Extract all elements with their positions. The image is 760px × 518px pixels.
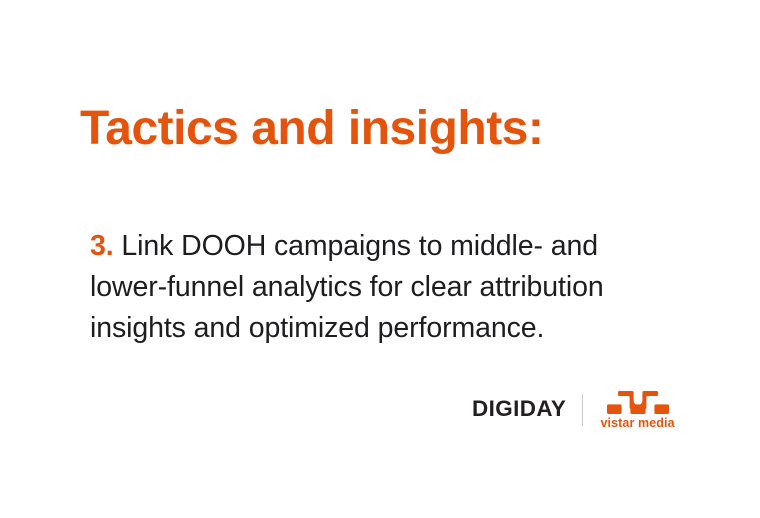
- page-title: Tactics and insights:: [80, 104, 543, 154]
- logo-lockup: DIGIDAY vistar media: [472, 388, 675, 432]
- vistar-media-logo: vistar media: [600, 391, 674, 430]
- list-item: 3. Link DOOH campaigns to middle- and lo…: [90, 226, 646, 349]
- list-item-number: 3.: [90, 230, 114, 262]
- list-item-text: Link DOOH campaigns to middle- and lower…: [90, 230, 604, 344]
- vistar-media-wordmark: vistar media: [600, 417, 674, 430]
- vistar-v-mark-icon: [607, 391, 669, 414]
- slide-canvas: Tactics and insights: 3. Link DOOH campa…: [0, 0, 760, 518]
- digiday-logo: DIGIDAY: [472, 398, 566, 422]
- logo-divider: [582, 394, 583, 426]
- body-content: 3. Link DOOH campaigns to middle- and lo…: [90, 197, 646, 377]
